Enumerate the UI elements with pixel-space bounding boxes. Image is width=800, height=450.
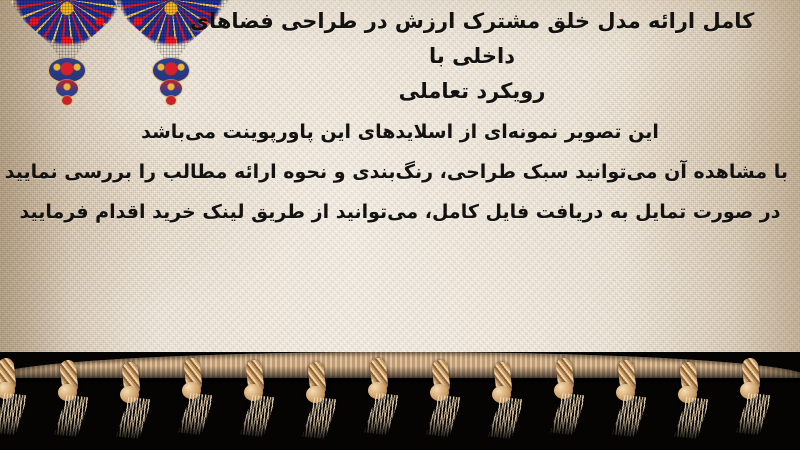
slide-body-line-2: با مشاهده آن می‌توانید سبک طراحی، رنگ‌بن… <box>12 152 788 192</box>
presentation-slide: کامل ارائه مدل خلق مشترک ارزش در طراحی ف… <box>0 0 800 450</box>
tassel-threads <box>488 397 524 439</box>
carpet-tassel <box>550 358 580 436</box>
carpet-tassel <box>116 362 146 440</box>
carpet-tassel <box>178 358 208 436</box>
carpet-tassel <box>0 358 22 436</box>
slide-title-line-2: رویکرد تعاملی <box>162 74 782 109</box>
slide-body-line-1: این تصویر نمونه‌ای از اسلایدهای این پاور… <box>12 112 788 152</box>
tassel-threads <box>612 395 648 437</box>
carpet-tassel <box>426 360 456 438</box>
tassel-threads <box>240 395 276 437</box>
tassel-threads <box>54 395 90 437</box>
carpet-tassel <box>612 360 642 438</box>
tassel-threads <box>364 393 400 435</box>
carpet-tassel <box>364 358 394 436</box>
slide-title-line-1: کامل ارائه مدل خلق مشترک ارزش در طراحی ف… <box>162 4 782 74</box>
slide-body-line-3: در صورت تمایل به دریافت فایل کامل، می‌تو… <box>12 192 788 232</box>
carpet-tassel <box>736 358 766 436</box>
carpet-tassel <box>302 362 332 440</box>
pendant-drop-middle <box>56 80 78 97</box>
tassel-threads <box>302 397 338 439</box>
tassel-threads <box>178 393 214 435</box>
carpet-fringe-band <box>0 352 800 450</box>
slide-title: کامل ارائه مدل خلق مشترک ارزش در طراحی ف… <box>162 4 782 109</box>
carpet-tassel <box>54 360 84 438</box>
carpet-tassel <box>674 362 704 440</box>
pendant-drop-upper <box>49 58 85 82</box>
tassel-threads <box>674 397 710 439</box>
tassel-threads <box>116 397 152 439</box>
slide-body: این تصویر نمونه‌ای از اسلایدهای این پاور… <box>12 112 788 232</box>
tassel-threads <box>426 395 462 437</box>
tassel-threads <box>0 393 28 435</box>
carpet-tassel <box>488 362 518 440</box>
pendant-drop-lower <box>62 96 72 105</box>
tassel-threads <box>550 393 586 435</box>
carpet-tassel <box>240 360 270 438</box>
tassel-threads <box>736 393 772 435</box>
